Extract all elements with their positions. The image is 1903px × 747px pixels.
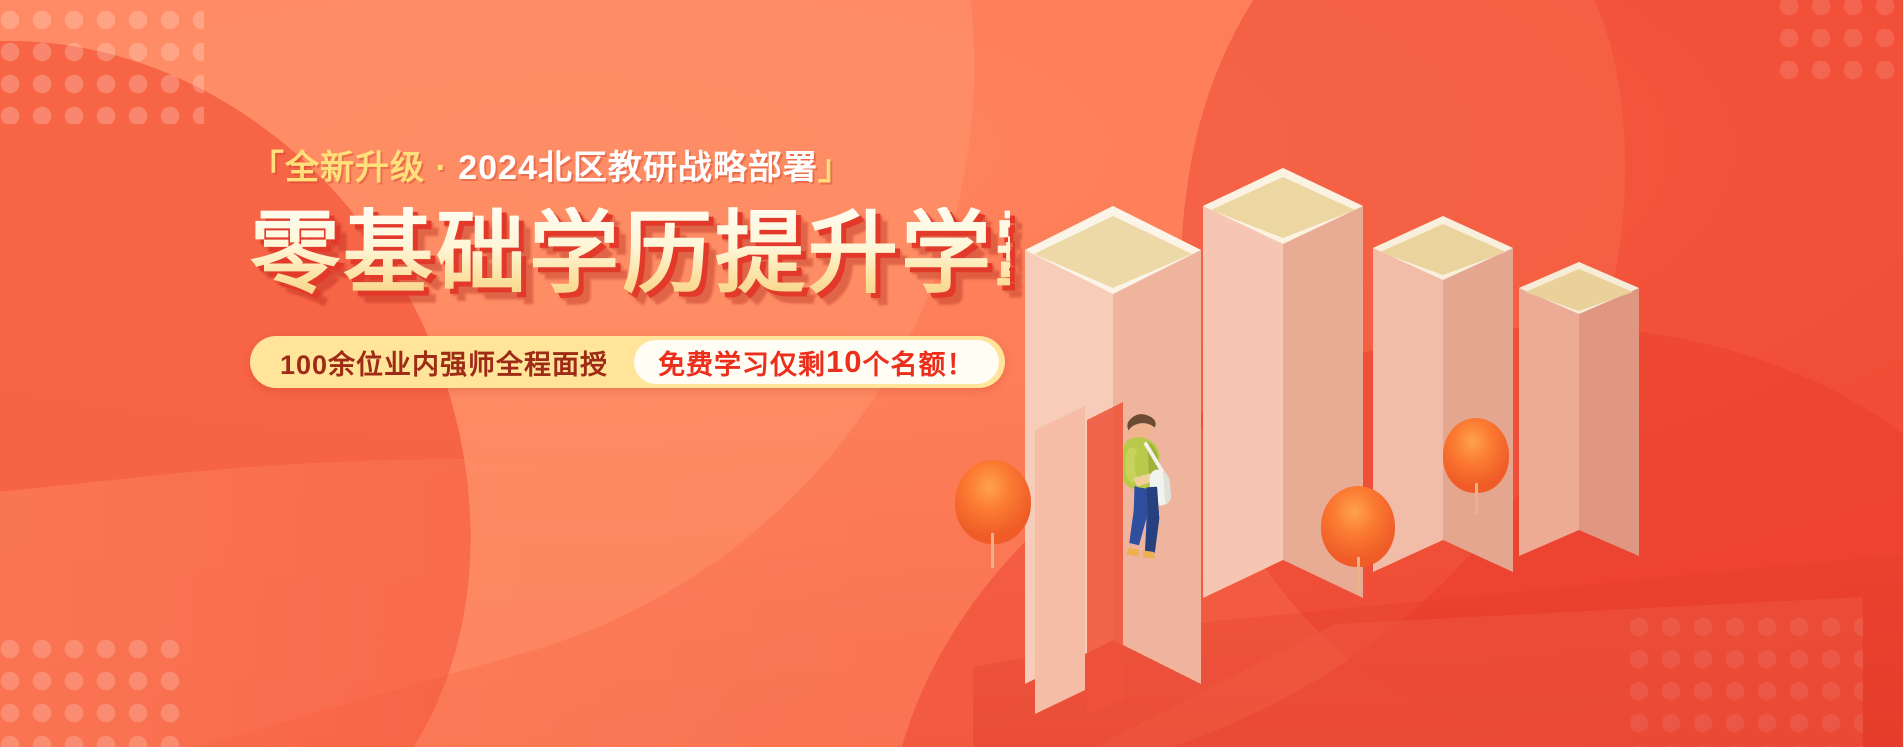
dot-pattern-top-left — [0, 4, 204, 124]
feature-pill-group: 100余位业内强师全程面授 免费学习仅剩10个名额！ — [250, 336, 1005, 388]
doorway-opening — [973, 0, 1903, 747]
tree-right — [1443, 418, 1509, 514]
promo-banner: 「全新升级 · 2024北区教研战略部署」 零基础学历提升学霸班 100余位业内… — [0, 0, 1903, 747]
tree-trunk — [991, 533, 994, 568]
dot-pattern-bottom-left — [0, 633, 184, 747]
student-walking-figure — [1091, 405, 1181, 570]
pill-seats-remaining: 免费学习仅剩10个名额！ — [634, 340, 998, 384]
tree-crown — [1321, 486, 1395, 567]
subtitle-bracket-close: 」 — [818, 149, 853, 187]
pill-teachers-label: 100余位业内强师全程面授 — [280, 343, 634, 382]
tree-crown — [1443, 418, 1509, 493]
tree-trunk — [1357, 557, 1360, 590]
tree-trunk — [1475, 483, 1478, 514]
tree-mid — [1321, 486, 1395, 590]
tree-crown — [955, 460, 1031, 544]
illustration — [973, 0, 1903, 747]
copy-block: 「全新升级 · 2024北区教研战略部署」 零基础学历提升学霸班 100余位业内… — [250, 148, 1010, 388]
subtitle-rest: 2024北区教研战略部署 — [458, 149, 818, 187]
subtitle-bracket-open: 「 — [250, 149, 285, 187]
subtitle-highlight: 全新升级 · — [285, 149, 458, 187]
banner-subtitle: 「全新升级 · 2024北区教研战略部署」 — [250, 148, 1010, 189]
seats-prefix: 免费学习仅剩 — [658, 343, 826, 382]
seats-count: 10 — [826, 344, 862, 380]
seats-suffix: 个名额！ — [863, 343, 975, 382]
banner-title: 零基础学历提升学霸班 — [250, 207, 1010, 302]
tree-left — [955, 460, 1031, 568]
